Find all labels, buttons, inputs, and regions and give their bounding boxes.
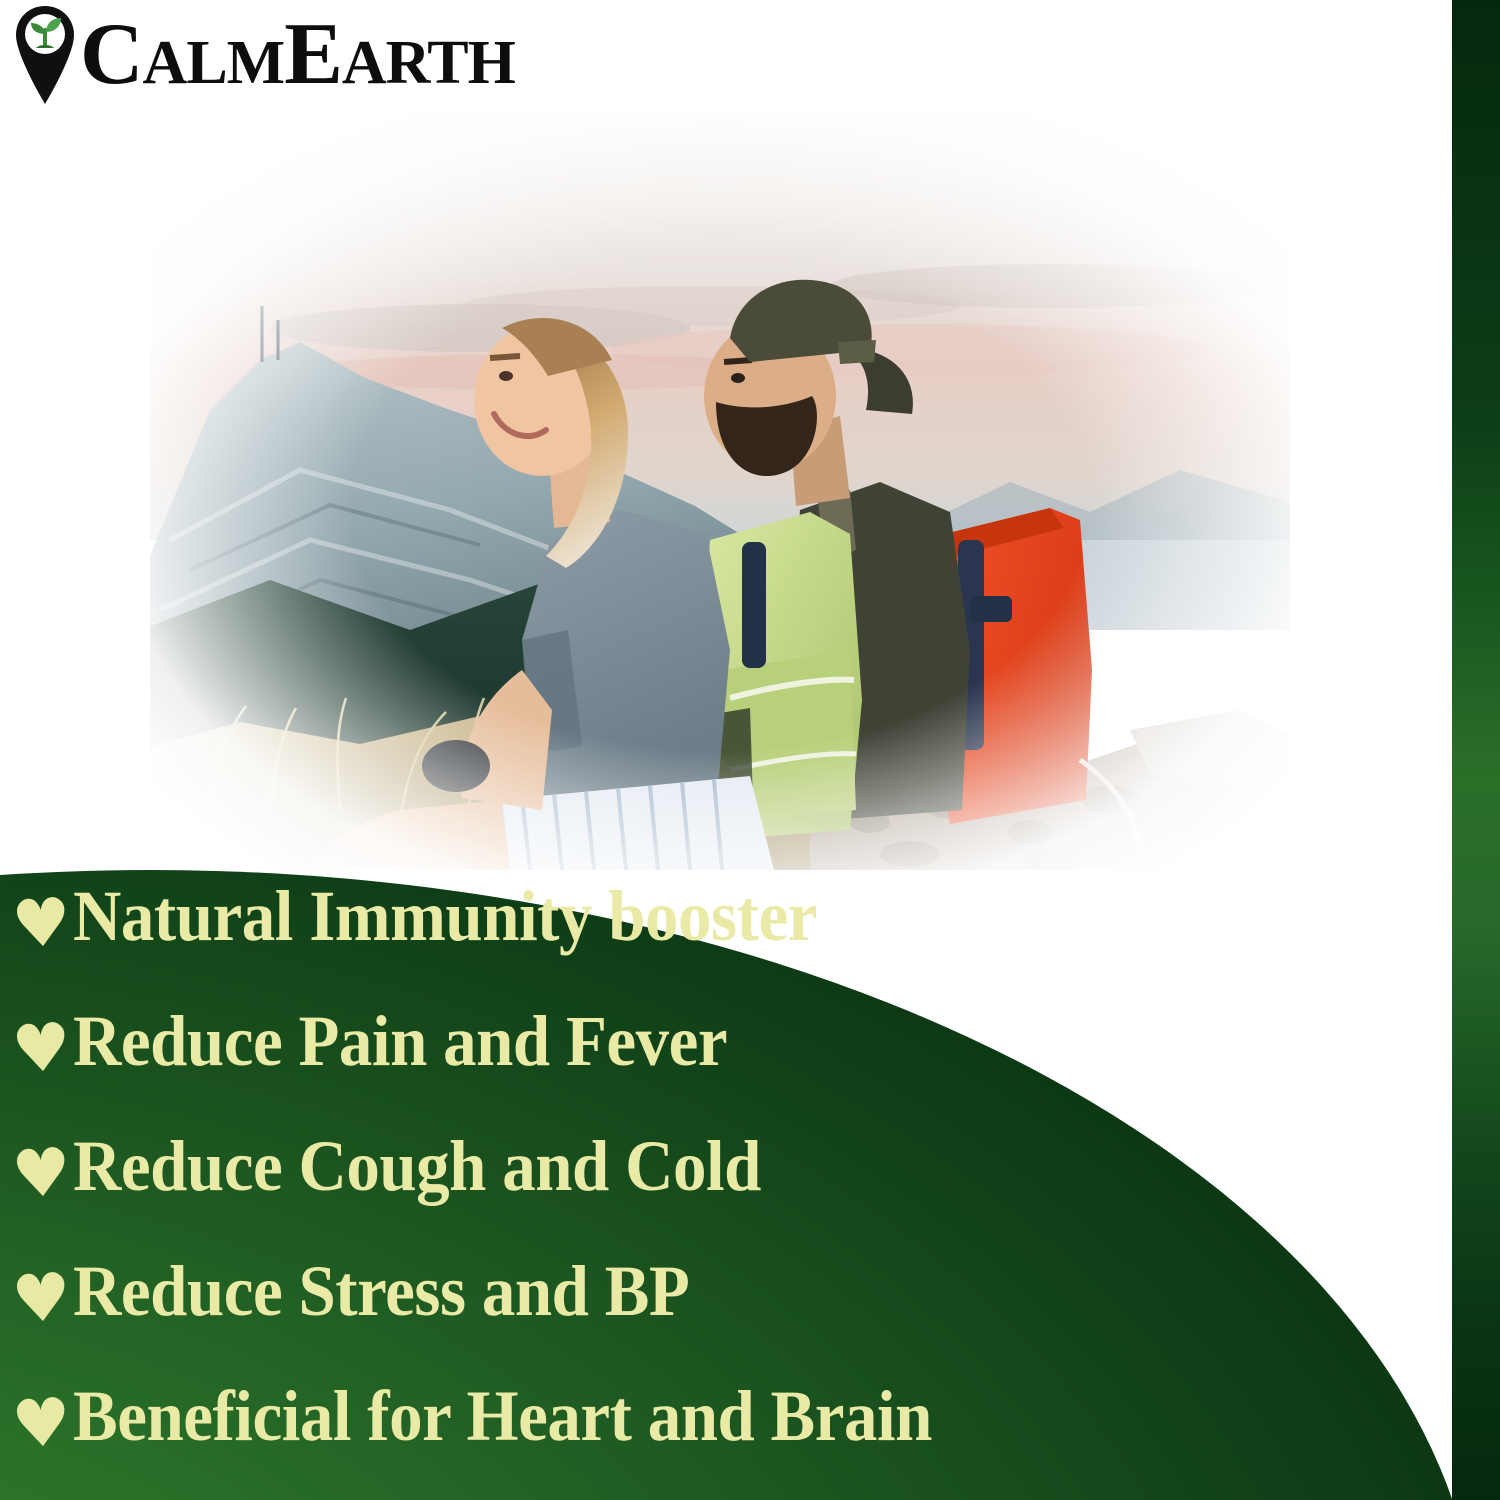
- brand-logo[interactable]: CalmEarth: [14, 4, 515, 106]
- benefit-item-3: ♥ Reduce Cough and Cold: [0, 1130, 1150, 1255]
- photo-scene: [150, 110, 1290, 870]
- benefit-label: Reduce Pain and Fever: [73, 1005, 727, 1077]
- benefit-item-2: ♥ Reduce Pain and Fever: [0, 1005, 1150, 1130]
- benefit-item-1: ♥ Natural Immunity booster: [0, 880, 1150, 1005]
- heart-bullet-icon: ♥: [10, 1389, 74, 1459]
- benefit-label: Natural Immunity booster: [73, 880, 817, 952]
- photo-vignette: [150, 110, 1290, 870]
- benefit-label: Reduce Stress and BP: [73, 1255, 689, 1327]
- benefits-list: ♥ Natural Immunity booster ♥ Reduce Pain…: [0, 880, 1150, 1500]
- hero-photo-illustration: [150, 110, 1290, 870]
- right-decorative-bar: [1452, 0, 1500, 1500]
- poster-canvas: CalmEarth ♥ Natural Immunity booster ♥ R…: [0, 0, 1500, 1500]
- benefit-label: Beneficial for Heart and Brain: [73, 1380, 932, 1452]
- benefit-label: Reduce Cough and Cold: [73, 1130, 761, 1202]
- heart-bullet-icon: ♥: [10, 1014, 74, 1084]
- benefit-item-5: ♥ Beneficial for Heart and Brain: [0, 1380, 1150, 1500]
- heart-bullet-icon: ♥: [10, 1139, 74, 1209]
- location-pin-with-sprout-icon: [14, 4, 76, 106]
- hero-photo: [150, 110, 1290, 870]
- brand-name: CalmEarth: [80, 5, 515, 105]
- heart-bullet-icon: ♥: [10, 1264, 74, 1334]
- benefit-item-4: ♥ Reduce Stress and BP: [0, 1255, 1150, 1380]
- heart-bullet-icon: ♥: [10, 889, 74, 959]
